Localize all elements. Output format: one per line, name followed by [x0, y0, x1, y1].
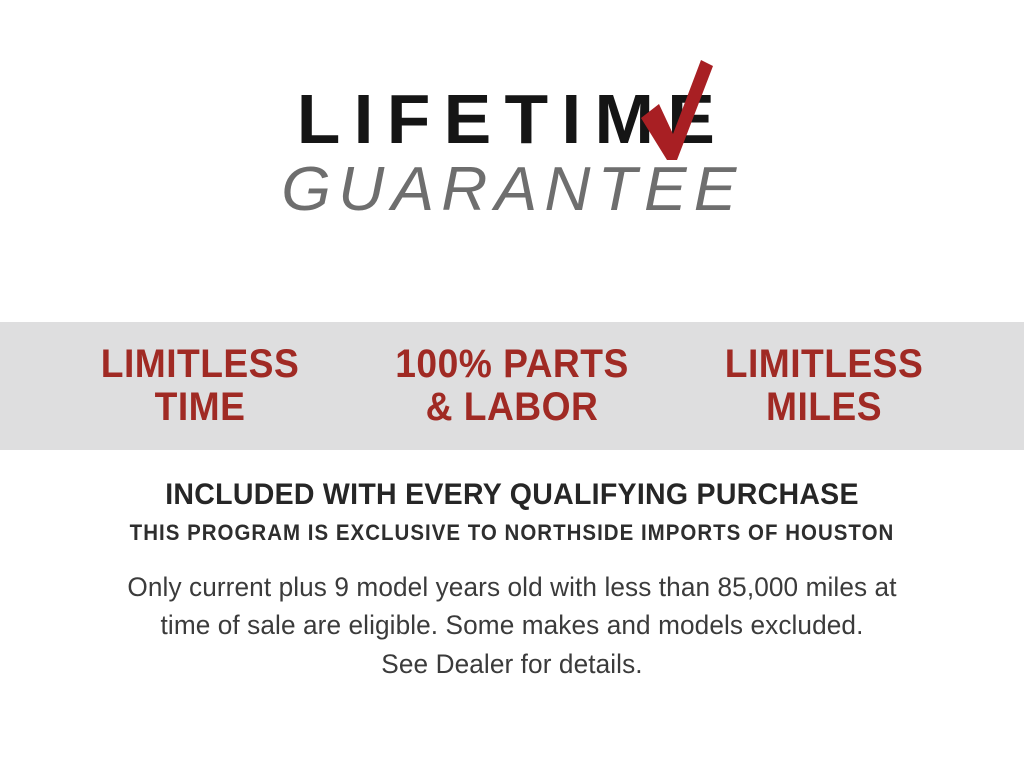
benefit-line-2: & LABOR: [367, 386, 657, 429]
fineprint-line-2: time of sale are eligible. Some makes an…: [76, 606, 949, 644]
headline-secondary: THIS PROGRAM IS EXCLUSIVE TO NORTHSIDE I…: [36, 520, 988, 546]
headline-block: INCLUDED WITH EVERY QUALIFYING PURCHASE …: [0, 478, 1024, 546]
fineprint-block: Only current plus 9 model years old with…: [62, 568, 962, 683]
benefit-limitless-miles: LIMITLESS MILES: [679, 343, 969, 429]
benefit-line-2: MILES: [679, 386, 969, 429]
logo-lockup: LIFETIME GUARANTEE: [288, 86, 737, 221]
benefit-limitless-time: LIMITLESS TIME: [55, 343, 345, 429]
benefit-parts-labor: 100% PARTS & LABOR: [367, 343, 657, 429]
benefit-line-1: 100% PARTS: [395, 342, 628, 386]
benefits-band: LIMITLESS TIME 100% PARTS & LABOR LIMITL…: [0, 322, 1024, 450]
logo-block: LIFETIME GUARANTEE: [0, 86, 1024, 221]
benefit-line-1: LIMITLESS: [101, 342, 299, 386]
benefit-line-2: TIME: [55, 386, 345, 429]
logo-guarantee-text: GUARANTEE: [281, 159, 743, 221]
benefit-line-1: LIMITLESS: [725, 342, 923, 386]
fineprint-line-1: Only current plus 9 model years old with…: [76, 568, 949, 606]
fineprint-line-3: See Dealer for details.: [76, 645, 949, 683]
lifetime-guarantee-ad: LIFETIME GUARANTEE LIMITLESS TIME 100% P…: [0, 0, 1024, 768]
headline-primary: INCLUDED WITH EVERY QUALIFYING PURCHASE: [26, 478, 999, 512]
logo-lifetime-text: LIFETIME: [283, 86, 741, 153]
